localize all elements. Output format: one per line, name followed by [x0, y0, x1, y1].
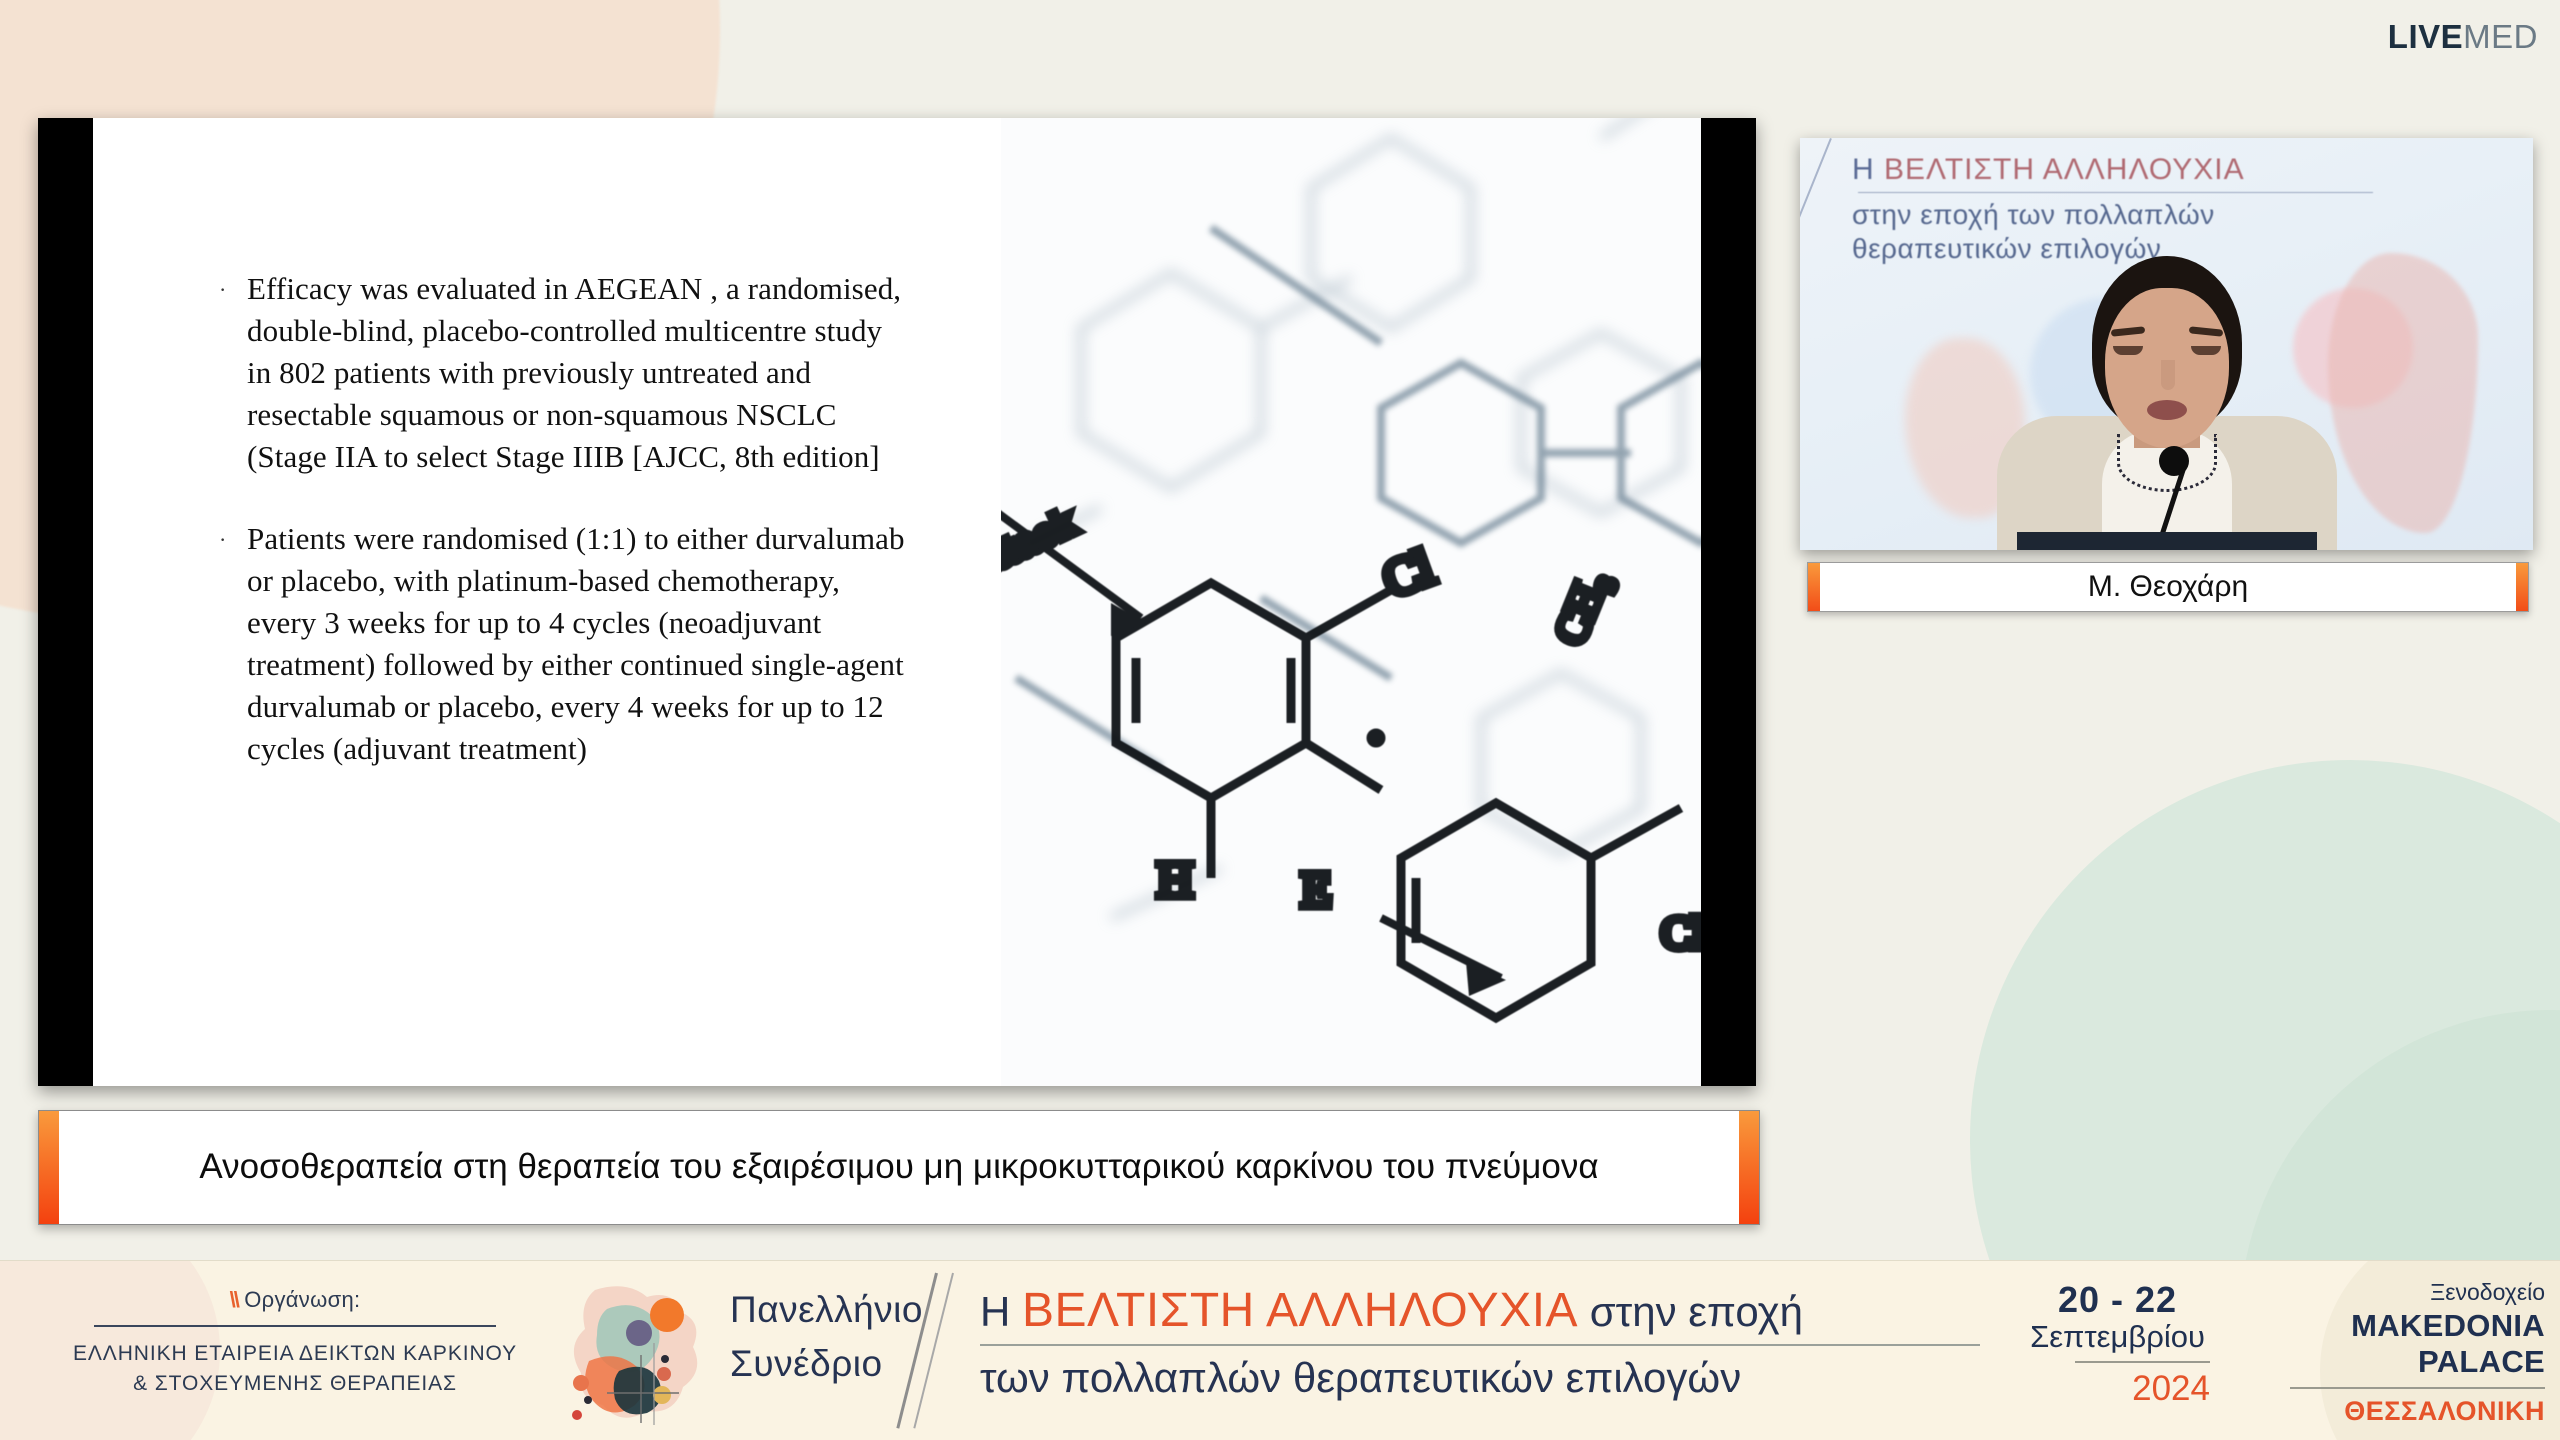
- theme-suffix: στην εποχή: [1578, 1288, 1803, 1335]
- video-backdrop-blob-map: [2328, 253, 2478, 533]
- session-title: Ανοσοθεραπεία στη θεραπεία του εξαιρέσιμ…: [199, 1144, 1598, 1191]
- speaker-eye-left: [2113, 346, 2143, 355]
- congress-date-year: 2024: [2025, 1369, 2210, 1409]
- slide-content: Cl H E CH₃ Cl attack · Efficacy was eval…: [93, 118, 1701, 1086]
- video-backdrop-text: Η ΒΕΛΤΙΣΤΗ ΑΛΛΗΛΟΥΧΙΑ στην εποχή των πολ…: [1852, 152, 2412, 266]
- congress-type: Πανελλήνιο Συνέδριο: [730, 1283, 920, 1390]
- video-backdrop-rule: [1858, 192, 2373, 193]
- bullet-item: · Efficacy was evaluated in AEGEAN , a r…: [213, 268, 913, 478]
- bullet-marker-icon: ·: [213, 268, 247, 478]
- congress-venue-block: Ξενοδοχείο MAKEDONIA PALACE ΘΕΣΣΑΛΟΝΙΚΗ: [2245, 1279, 2545, 1427]
- congress-date-divider: [2075, 1361, 2210, 1363]
- livemed-logo-live: LIVE: [2388, 18, 2463, 55]
- video-backdrop-line1-prefix: Η: [1852, 153, 1884, 186]
- organizer-block: \\ Οργάνωση: ΕΛΛΗΝΙΚΗ ΕΤΑΙΡΕΙΑ ΔΕΙΚΤΩΝ Κ…: [60, 1287, 530, 1399]
- slide-bullet-list: · Efficacy was evaluated in AEGEAN , a r…: [213, 268, 913, 810]
- organizer-name-line1: ΕΛΛΗΝΙΚΗ ΕΤΑΙΡΕΙΑ ΔΕΙΚΤΩΝ ΚΑΡΚΙΝΟΥ: [60, 1339, 530, 1369]
- svg-text:Cl: Cl: [1661, 907, 1701, 958]
- slide-chemistry-background-image: Cl H E CH₃ Cl attack: [1001, 118, 1701, 1086]
- congress-title-block: Πανελλήνιο Συνέδριο Η ΒΕΛΤΙΣΤΗ ΑΛΛΗΛΟΥΧΙ…: [730, 1283, 1980, 1423]
- congress-theme-line1: Η ΒΕΛΤΙΣΤΗ ΑΛΛΗΛΟΥΧΙΑ στην εποχή: [980, 1283, 1980, 1338]
- bullet-text: Efficacy was evaluated in AEGEAN , a ran…: [247, 268, 913, 478]
- congress-date-range: 20 - 22: [2025, 1279, 2210, 1321]
- microphone-icon: [2159, 446, 2189, 476]
- speaker-mouth: [2147, 400, 2187, 420]
- theme-prefix: Η: [980, 1288, 1022, 1335]
- venue-city: ΘΕΣΣΑΛΟΝΙΚΗ: [2245, 1396, 2545, 1427]
- nameplate-accent-left: [1808, 563, 1820, 611]
- livemed-logo-med: MED: [2463, 18, 2538, 55]
- bullet-marker-icon: ·: [213, 518, 247, 770]
- venue-name: MAKEDONIA PALACE: [2245, 1308, 2545, 1380]
- titlebar-accent-left: [39, 1111, 59, 1224]
- bullet-item: · Patients were randomised (1:1) to eith…: [213, 518, 913, 770]
- titlebar-accent-right: [1739, 1111, 1759, 1224]
- theme-highlight: ΒΕΛΤΙΣΤΗ ΑΛΛΗΛΟΥΧΙΑ: [1022, 1284, 1578, 1337]
- video-backdrop-line3: θεραπευτικών επιλογών: [1852, 232, 2412, 266]
- congress-theme-divider: [980, 1344, 1980, 1346]
- session-title-bar: Ανοσοθεραπεία στη θεραπεία του εξαιρέσιμ…: [38, 1110, 1760, 1225]
- video-backdrop-line1-main: ΒΕΛΤΙΣΤΗ ΑΛΛΗΛΟΥΧΙΑ: [1884, 153, 2245, 186]
- svg-text:Cl: Cl: [1376, 539, 1442, 609]
- speaker-name: Μ. Θεοχάρη: [2088, 570, 2248, 604]
- organizer-label-row: \\ Οργάνωση:: [60, 1287, 530, 1313]
- organizer-label: Οργάνωση:: [244, 1287, 360, 1312]
- bullet-text: Patients were randomised (1:1) to either…: [247, 518, 913, 770]
- congress-word-conference: Συνέδριο: [730, 1337, 920, 1391]
- video-backdrop-line1: Η ΒΕΛΤΙΣΤΗ ΑΛΛΗΛΟΥΧΙΑ: [1852, 152, 2412, 189]
- venue-divider: [2290, 1387, 2545, 1389]
- organizer-slashes-icon: \\: [230, 1287, 238, 1312]
- venue-label: Ξενοδοχείο: [2245, 1279, 2545, 1306]
- presentation-slide[interactable]: Cl H E CH₃ Cl attack · Efficacy was eval…: [38, 118, 1756, 1086]
- svg-text:E: E: [1301, 861, 1332, 917]
- svg-text:attack: attack: [1001, 501, 1083, 586]
- organizer-name-line2: & ΣΤΟΧΕΥΜΕΝΗΣ ΘΕΡΑΠΕΙΑΣ: [60, 1369, 530, 1399]
- nameplate-accent-right: [2516, 563, 2528, 611]
- speaker-nameplate: Μ. Θεοχάρη: [1807, 562, 2529, 612]
- congress-theme: Η ΒΕΛΤΙΣΤΗ ΑΛΛΗΛΟΥΧΙΑ στην εποχή των πολ…: [980, 1283, 1980, 1402]
- screen: LIVEMED: [0, 0, 2560, 1440]
- video-backdrop-diagonal-line: [1800, 138, 1832, 371]
- podium: [2017, 532, 2317, 550]
- congress-logo: [555, 1275, 735, 1435]
- congress-banner: \\ Οργάνωση: ΕΛΛΗΝΙΚΗ ΕΤΑΙΡΕΙΑ ΔΕΙΚΤΩΝ Κ…: [0, 1260, 2560, 1440]
- livemed-logo: LIVEMED: [2388, 18, 2538, 56]
- congress-word-panhellenic: Πανελλήνιο: [730, 1283, 920, 1337]
- speaker-eye-right: [2191, 346, 2221, 355]
- congress-theme-line2: των πολλαπλών θεραπευτικών επιλογών: [980, 1354, 1980, 1402]
- speaker-video-panel[interactable]: Η ΒΕΛΤΙΣΤΗ ΑΛΛΗΛΟΥΧΙΑ στην εποχή των πολ…: [1800, 138, 2533, 550]
- video-backdrop-line2: στην εποχή των πολλαπλών: [1852, 198, 2412, 232]
- svg-text:H: H: [1157, 851, 1193, 907]
- speaker-nose: [2161, 360, 2175, 390]
- speaker-video-frame: Η ΒΕΛΤΙΣΤΗ ΑΛΛΗΛΟΥΧΙΑ στην εποχή των πολ…: [1800, 138, 2533, 550]
- congress-date-block: 20 - 22 Σεπτεμβρίου 2024: [2025, 1279, 2210, 1409]
- organizer-divider: [94, 1325, 496, 1327]
- svg-text:CH₃: CH₃: [1545, 562, 1619, 651]
- congress-date-month: Σεπτεμβρίου: [2025, 1319, 2210, 1355]
